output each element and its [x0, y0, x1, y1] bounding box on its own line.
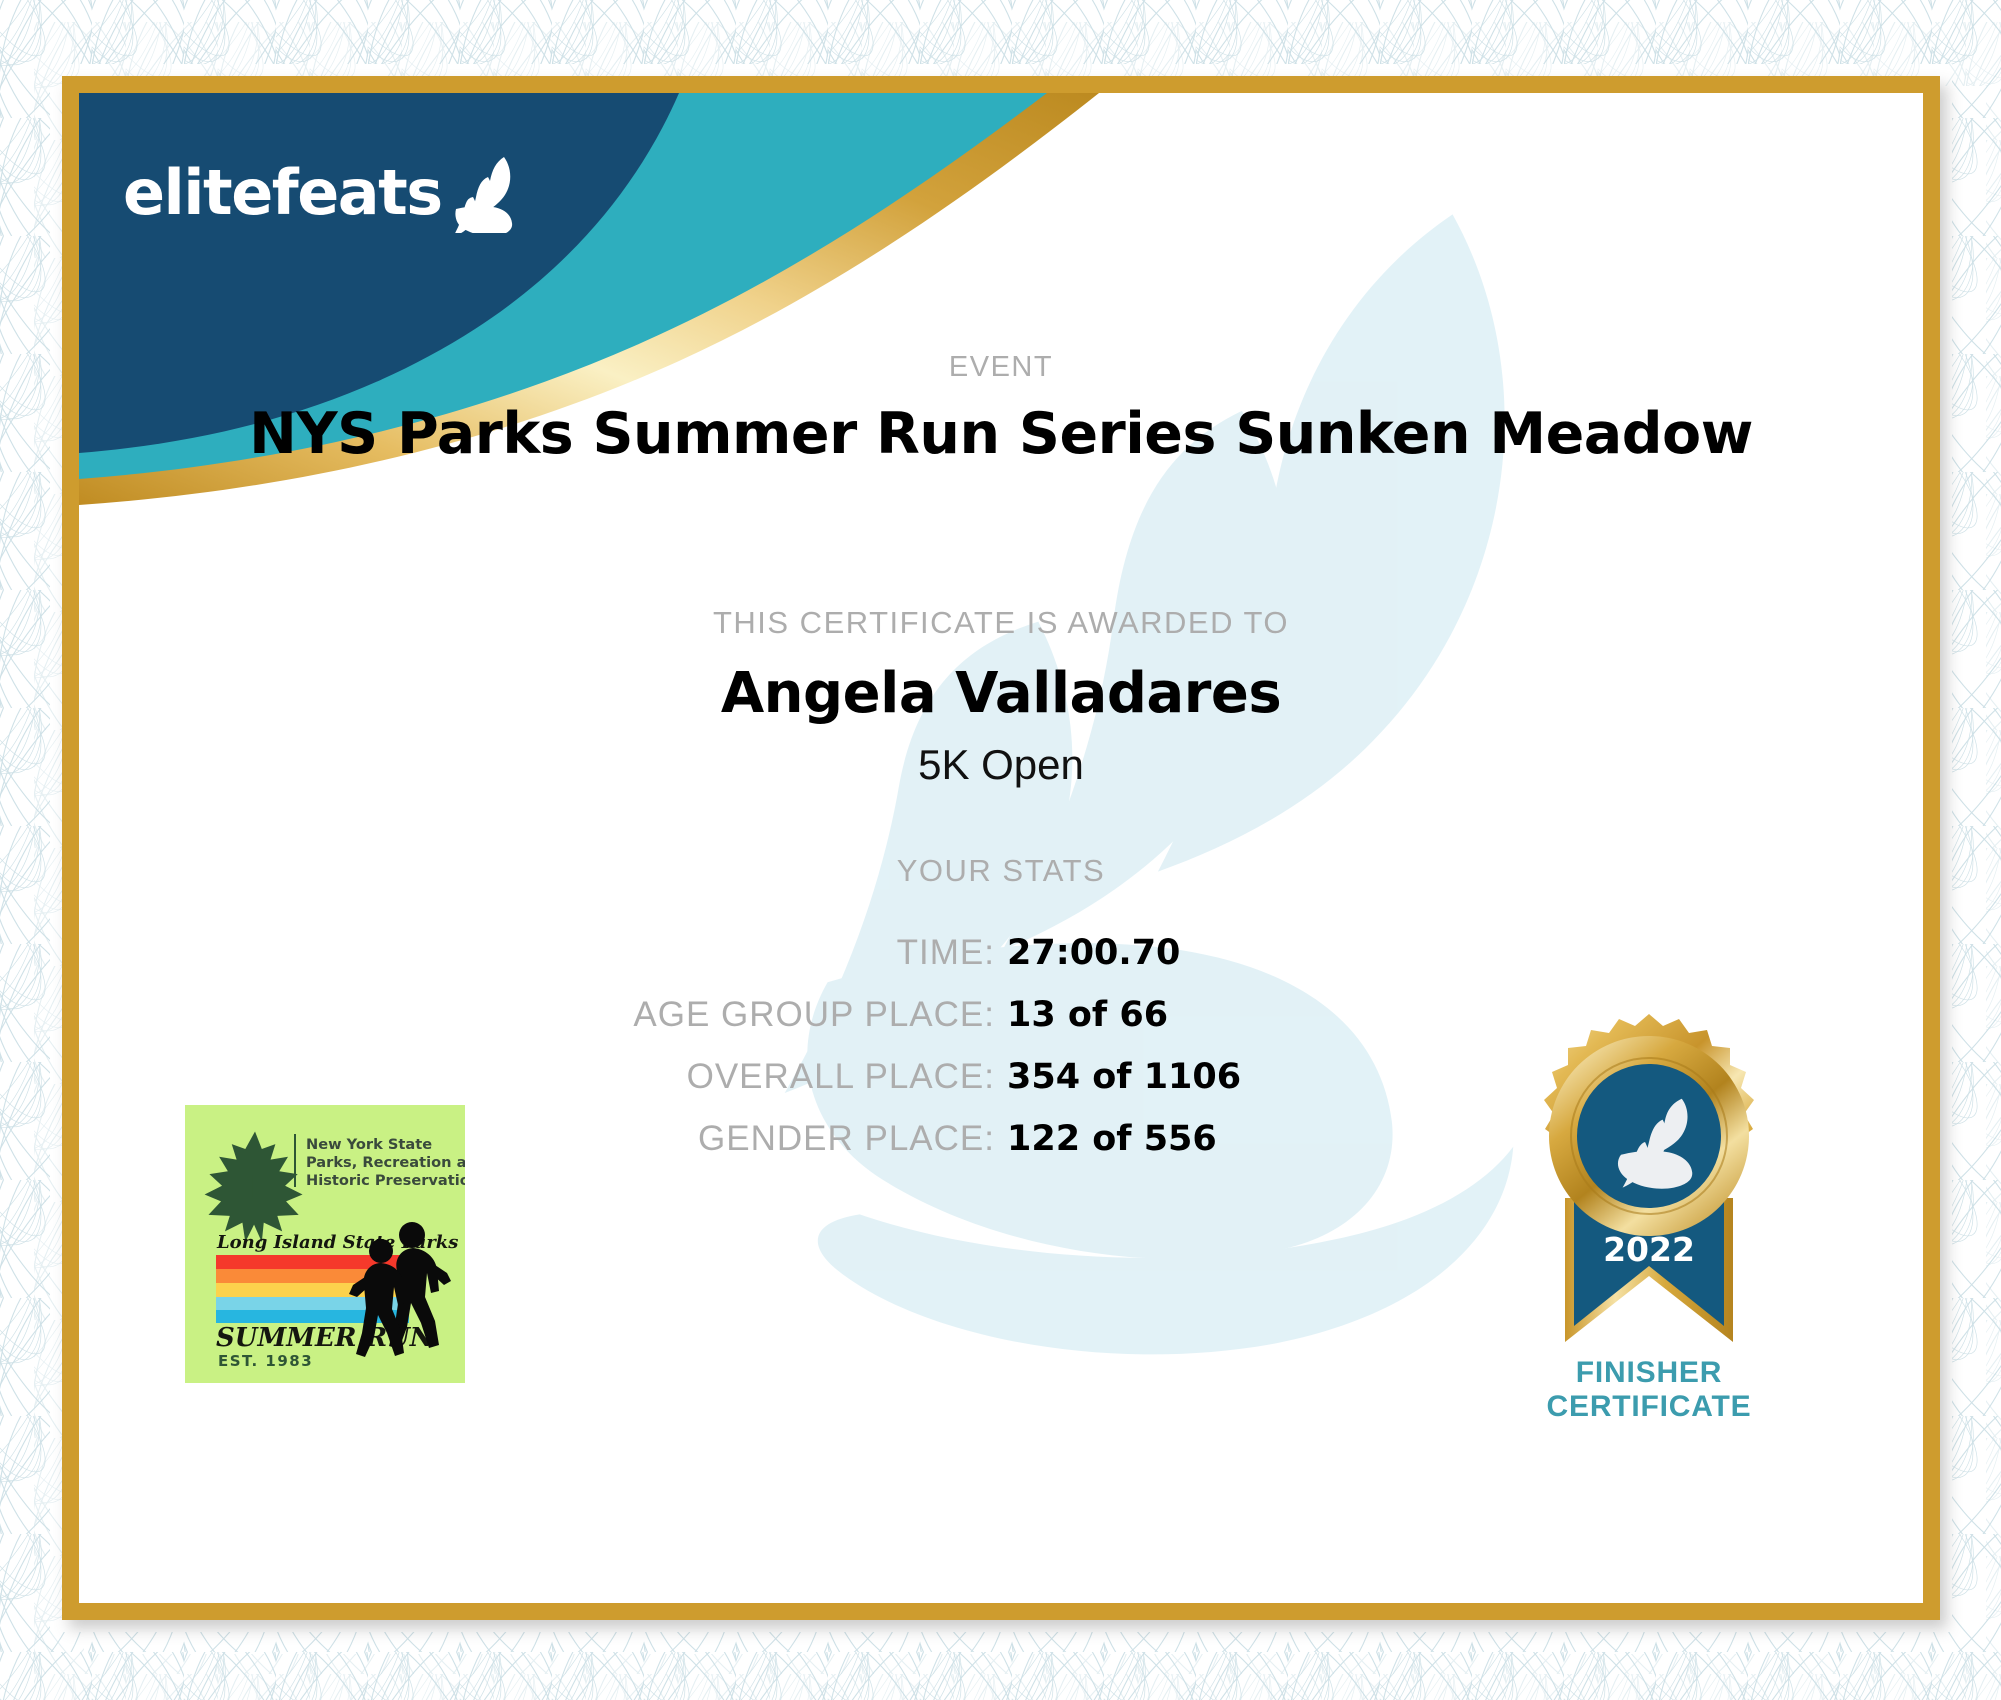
stat-label-time: TIME: — [415, 933, 995, 973]
medal-caption-line1: FINISHER — [1479, 1356, 1819, 1390]
parks-established: EST. 1983 — [218, 1352, 313, 1370]
your-stats-heading: YOUR STATS — [79, 853, 1923, 889]
winged-foot-icon — [448, 153, 524, 233]
parks-agency-line2: Parks, Recreation and — [306, 1154, 465, 1171]
certificate-inner-area: elitefeats EVENT NYS Parks Summer Run Se… — [79, 93, 1923, 1603]
brand-wordmark: elitefeats — [123, 162, 442, 224]
gold-rosette-icon — [1544, 1014, 1754, 1236]
certificate-page: elitefeats EVENT NYS Parks Summer Run Se… — [0, 0, 2001, 1700]
medal-caption-line2: CERTIFICATE — [1479, 1390, 1819, 1424]
stat-row-time: TIME: 27:00.70 — [79, 933, 1923, 973]
event-title: NYS Parks Summer Run Series Sunken Meado… — [79, 401, 1923, 467]
awarded-to-label: THIS CERTIFICATE IS AWARDED TO — [79, 605, 1923, 641]
brand-logo: elitefeats — [123, 153, 524, 233]
race-division: 5K Open — [79, 741, 1923, 789]
medal-caption: FINISHER CERTIFICATE — [1479, 1356, 1819, 1423]
stat-label-overall-place: OVERALL PLACE: — [415, 1057, 995, 1097]
finisher-medal: 2022 — [1479, 1008, 1819, 1508]
certificate-content: EVENT NYS Parks Summer Run Series Sunken… — [79, 93, 1923, 1603]
event-label: EVENT — [79, 351, 1923, 384]
stat-value-time: 27:00.70 — [995, 933, 1587, 973]
nys-parks-summer-run-logo: New York State Parks, Recreation and His… — [185, 1105, 465, 1383]
stat-label-gender-place: GENDER PLACE: — [415, 1119, 995, 1159]
recipient-name: Angela Valladares — [79, 661, 1923, 726]
stat-label-age-group-place: AGE GROUP PLACE: — [415, 995, 995, 1035]
parks-agency-line1: New York State — [306, 1136, 432, 1153]
parks-agency-line3: Historic Preservation — [306, 1172, 465, 1189]
certificate-card: elitefeats EVENT NYS Parks Summer Run Se… — [62, 76, 1940, 1620]
